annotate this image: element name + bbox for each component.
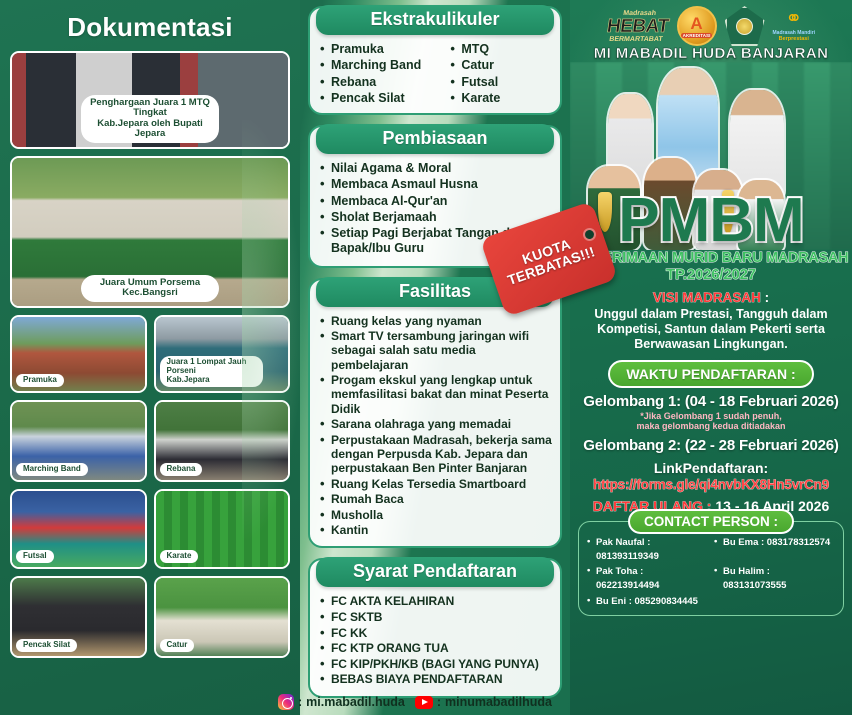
photo-caption: Juara 1 Lompat Jauh Porseni Kab.Jepara: [160, 356, 263, 387]
contact-item: Bu Halim : 083131073555: [714, 565, 835, 594]
list-item: Musholla: [318, 508, 552, 522]
youtube-handle-text: minumabadilhuda: [445, 695, 552, 709]
visi-label: VISI MADRASAH: [653, 290, 761, 305]
list-item: Smart TV tersambung jaringan wifi sebaga…: [318, 329, 552, 372]
documentation-title: Dokumentasi: [10, 12, 290, 43]
list-item: Kantin: [318, 523, 552, 537]
list-item: Catur: [448, 58, 552, 73]
list-item: Setiap Pagi Berjabat Tangan dengan Bapak…: [318, 226, 552, 257]
list-item: Pramuka: [318, 42, 444, 57]
photo-pencak-silat: Pencak Silat: [10, 576, 147, 658]
list-item: FC AKTA KELAHIRAN: [318, 594, 552, 609]
list-item: Nilai Agama & Moral: [318, 161, 552, 176]
gelombang-note: *Jika Gelombang 1 sudah penuh, maka gelo…: [570, 411, 852, 432]
list-item: BEBAS BIAYA PENDAFTARAN: [318, 672, 552, 687]
card-syarat-pendaftaran: Syarat Pendaftaran FC AKTA KELAHIRAN FC …: [308, 558, 562, 698]
photo-caption: Rebana: [160, 463, 203, 476]
contact-person-title: CONTACT PERSON :: [628, 509, 794, 534]
card-title: Syarat Pendaftaran: [316, 557, 554, 587]
list-item: Progam ekskul yang lengkap untuk memfasi…: [318, 373, 552, 416]
photo-karate: Karate: [154, 489, 291, 569]
list-item: Membaca Al-Qur'an: [318, 194, 552, 209]
pmbm-year: TP.2026/2027: [570, 266, 852, 283]
link-pendaftaran-label: LinkPendaftaran:: [570, 460, 852, 476]
contact-item: Pak Toha : 062213914494: [587, 565, 708, 594]
contact-item: Bu Eni : 085290834445: [587, 595, 708, 609]
headline-block: PMBM PENERIMAAN MURID BARU MADRASAH TP.2…: [570, 192, 852, 283]
list-item: Sarana olahraga yang memadai: [318, 417, 552, 431]
logo-hebat-main: HEBAT: [606, 17, 670, 36]
list-item: Perpustakaan Madrasah, bekerja sama deng…: [318, 433, 552, 476]
photo-futsal: Futsal: [10, 489, 147, 569]
social-footer: : mi.mabadil.huda : minumabadilhuda: [278, 694, 552, 710]
documentation-column: Dokumentasi Penghargaan Juara 1 MTQ Ting…: [0, 0, 300, 715]
school-name: MI MABADIL HUDA BANJARAN: [570, 45, 852, 62]
akreditasi-label: AKREDITASI: [681, 33, 713, 38]
madrasah-hebat-mandiri-logo: ⚭ Madrasah Mandiri Berprestasi: [773, 6, 816, 46]
visi-colon: :: [761, 290, 769, 305]
list-item: Ruang kelas yang nyaman: [318, 314, 552, 328]
list-item: Futsal: [448, 75, 552, 90]
photo-caption: Marching Band: [16, 463, 88, 476]
photo-grid-row-2: Marching Band Rebana: [10, 400, 290, 482]
fasilitas-list: Ruang kelas yang nyaman Smart TV tersamb…: [318, 314, 552, 538]
list-item: Sholat Berjamaah: [318, 210, 552, 225]
contact-list: Pak Naufal : 081393119349 Bu Ema : 08317…: [587, 536, 835, 609]
instagram-handle-text: mi.mabadil.huda: [306, 695, 405, 709]
photo-caption: Penghargaan Juara 1 MTQ Tingkat Kab.Jepa…: [81, 95, 219, 144]
syarat-list: FC AKTA KELAHIRAN FC SKTB FC KK FC KTP O…: [318, 594, 552, 687]
visi-text: Unggul dalam Prestasi, Tangguh dalam Kom…: [570, 305, 852, 352]
youtube-separator: :: [437, 695, 441, 709]
registration-link[interactable]: https://forms.gle/qi4nvbKX8Hn5vrCn9: [570, 477, 852, 492]
logo-row: Madrasah HEBAT BERMARTABAT A AKREDITASI …: [570, 0, 852, 48]
list-item: Ruang Kelas Tersedia Smartboard: [318, 477, 552, 491]
contact-person-box: CONTACT PERSON : Pak Naufal : 0813931193…: [578, 521, 844, 616]
photo-pramuka: Pramuka: [10, 315, 147, 393]
photo-caption: Futsal: [16, 550, 54, 563]
list-item: FC SKTB: [318, 610, 552, 625]
photo-porsema: Juara Umum Porsema Kec.Bangsri: [10, 156, 290, 308]
youtube-handle[interactable]: : minumabadilhuda: [415, 695, 552, 709]
contact-item: Bu Ema : 083178312574: [714, 536, 835, 565]
ekstrakulikuler-list-col1: Pramuka Marching Band Rebana Pencak Sila…: [318, 42, 444, 107]
instagram-separator: :: [298, 695, 302, 709]
poster-root: Dokumentasi Penghargaan Juara 1 MTQ Ting…: [0, 0, 852, 715]
logo-hebat-bottom: BERMARTABAT: [605, 36, 668, 43]
mandiri-line-2: Berprestasi: [773, 36, 816, 42]
photo-grid-row-4: Pencak Silat Catur: [10, 576, 290, 658]
photo-mtq-award: Penghargaan Juara 1 MTQ Tingkat Kab.Jepa…: [10, 51, 290, 149]
gelombang-2: Gelombang 2: (22 - 28 Februari 2026): [570, 437, 852, 454]
photo-lompat-jauh: Juara 1 Lompat Jauh Porseni Kab.Jepara: [154, 315, 291, 393]
pmbm-headline: PMBM: [570, 192, 852, 249]
akreditasi-a-logo: A AKREDITASI: [677, 6, 717, 46]
photo-caption: Pramuka: [16, 374, 64, 387]
pmbm-subtitle: PENERIMAAN MURID BARU MADRASAH: [570, 250, 852, 266]
visi-label-row: VISI MADRASAH :: [570, 290, 852, 305]
registration-column: Madrasah HEBAT BERMARTABAT A AKREDITASI …: [570, 0, 852, 715]
instagram-icon: [278, 694, 294, 710]
list-item: Marching Band: [318, 58, 444, 73]
list-item: Rebana: [318, 75, 444, 90]
card-pembiasaan: Pembiasaan Nilai Agama & Moral Membaca A…: [308, 125, 562, 268]
list-item: FC KTP ORANG TUA: [318, 641, 552, 656]
akreditasi-grade: A: [690, 15, 702, 32]
list-item: Pencak Silat: [318, 91, 444, 106]
kemenag-banjaran-logo: [725, 6, 765, 46]
instagram-handle[interactable]: : mi.mabadil.huda: [278, 694, 405, 710]
list-item: Karate: [448, 91, 552, 106]
list-item: MTQ: [448, 42, 552, 57]
kemenag-emblem-inner: [736, 18, 753, 35]
list-item: Rumah Baca: [318, 492, 552, 506]
photo-grid-row-3: Futsal Karate: [10, 489, 290, 569]
madrasah-hebat-bermartabat-logo: Madrasah HEBAT BERMARTABAT: [607, 6, 669, 46]
gelombang-1: Gelombang 1: (04 - 18 Februari 2026): [570, 393, 852, 410]
card-title: Fasilitas: [316, 277, 554, 307]
photo-caption: Karate: [160, 550, 199, 563]
contact-item: Pak Naufal : 081393119349: [587, 536, 708, 565]
photo-caption: Catur: [160, 639, 195, 652]
card-ekstrakulikuler: Ekstrakulikuler Pramuka Marching Band Re…: [308, 6, 562, 115]
photo-catur: Catur: [154, 576, 291, 658]
people-icon: ⚭: [785, 8, 802, 30]
card-title: Pembiasaan: [316, 124, 554, 154]
waktu-pendaftaran-label: WAKTU PENDAFTARAN :: [608, 360, 813, 388]
list-item: FC KK: [318, 626, 552, 641]
photo-caption: Pencak Silat: [16, 639, 77, 652]
photo-caption: Juara Umum Porsema Kec.Bangsri: [81, 275, 219, 302]
list-item: FC KIP/PKH/KB (BAGI YANG PUNYA): [318, 657, 552, 672]
card-fasilitas: Fasilitas Ruang kelas yang nyaman Smart …: [308, 278, 562, 549]
photo-rebana: Rebana: [154, 400, 291, 482]
youtube-icon: [415, 696, 433, 709]
photo-marching-band: Marching Band: [10, 400, 147, 482]
pembiasaan-list: Nilai Agama & Moral Membaca Asmaul Husna…: [318, 161, 552, 257]
ekstrakulikuler-list-col2: MTQ Catur Futsal Karate: [448, 42, 552, 107]
info-column: Ekstrakulikuler Pramuka Marching Band Re…: [300, 0, 570, 715]
list-item: Membaca Asmaul Husna: [318, 177, 552, 192]
photo-grid-row-1: Pramuka Juara 1 Lompat Jauh Porseni Kab.…: [10, 315, 290, 393]
card-title: Ekstrakulikuler: [316, 5, 554, 35]
